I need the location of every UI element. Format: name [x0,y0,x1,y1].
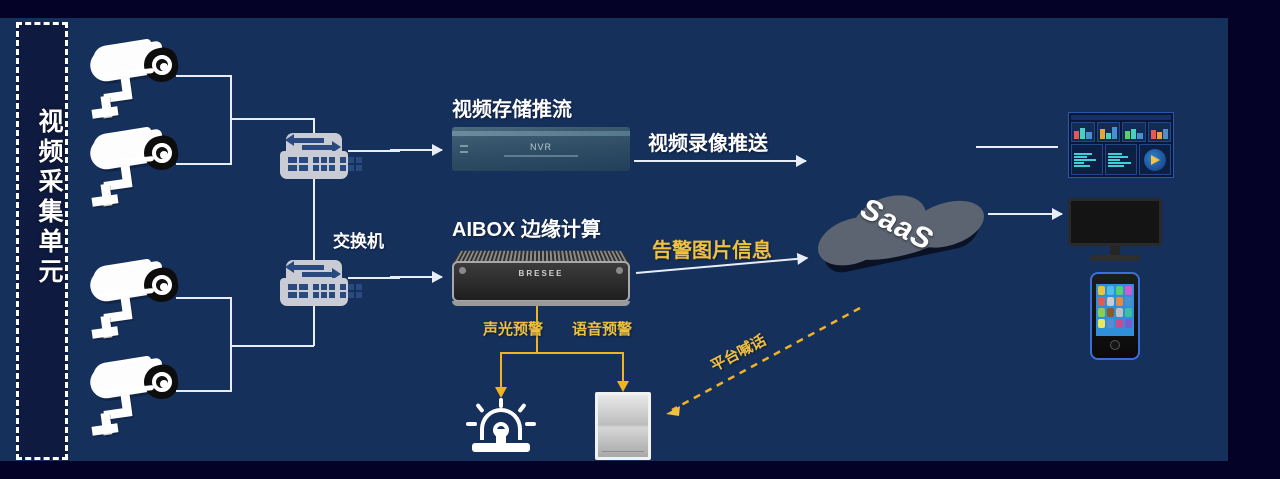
link-cloud-dashboard [976,146,1058,148]
arrow-to-siren [500,352,502,388]
platform-broadcast-flow: 平台喊话 [650,300,880,420]
saas-cloud-icon: SaaS [818,182,988,292]
link-bus-top-out [230,118,314,120]
arrow-switch2-aibox [390,276,442,278]
monitor-icon [1068,198,1162,264]
link-bus-bottom-out [230,345,314,347]
switch-icon-1 [280,133,348,181]
voice-alarm-label: 语音预警 [572,318,632,339]
arrow-to-speaker [622,352,624,382]
camera-icon-3 [82,258,186,344]
link-cam2 [176,163,232,165]
camera-icon-2 [82,126,186,212]
arrow-nvr-cloud [634,160,806,162]
nvr-device-icon: NVR [452,127,630,171]
arrow-cloud-monitor [988,213,1062,215]
siren-icon [466,398,536,456]
camera-icon-4 [82,355,186,441]
sound-light-alarm-label: 声光预警 [483,318,543,339]
link-cam1 [176,75,232,77]
nvr-brand: NVR [530,142,552,152]
arrow-switch1-nvr [390,149,442,151]
diagram-canvas: 视频采集单元 [0,0,1280,479]
alarm-image-label: 告警图片信息 [652,234,772,263]
camera-icon-1 [82,38,186,124]
link-bus-top [230,75,232,165]
switch-label: 交换机 [333,227,384,252]
speaker-icon [595,392,651,460]
aibox-brand: BRESEE [519,269,564,278]
video-capture-unit-label: 视频采集单元 [22,108,62,288]
nvr-label: 视频存储推流 [452,93,572,122]
aibox-device-icon: BRESEE [452,250,630,302]
switch-icon-2 [280,260,348,308]
aibox-label: AIBOX 边缘计算 [452,213,601,242]
dashboard-screen-icon [1068,112,1174,178]
link-cam4 [176,390,232,392]
video-push-label: 视频录像推送 [648,127,768,156]
link-alarm-bus [500,352,624,354]
link-cam3 [176,297,232,299]
smartphone-icon [1090,272,1140,360]
